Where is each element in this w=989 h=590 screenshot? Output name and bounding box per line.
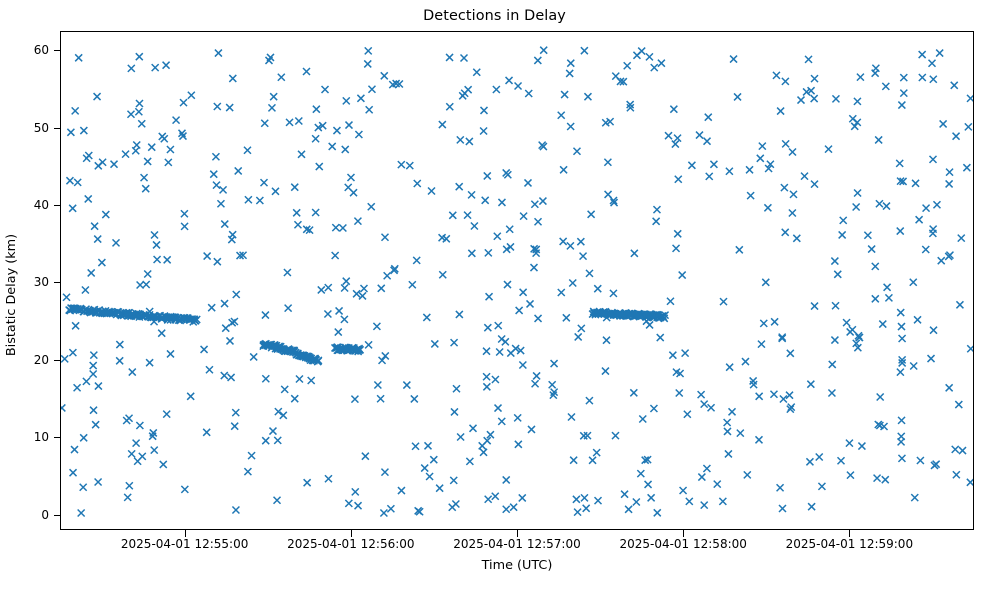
y-axis-tick-mark xyxy=(54,515,61,516)
x-axis-tick-label: 2025-04-01 12:58:00 xyxy=(619,537,746,551)
x-axis-label: Time (UTC) xyxy=(60,558,974,573)
y-axis-tick-mark xyxy=(54,437,61,438)
y-axis-tick-mark xyxy=(54,282,61,283)
x-axis-tick-mark xyxy=(849,530,850,537)
y-axis-tick-label: 0 xyxy=(41,508,49,522)
plot-area xyxy=(60,31,974,530)
x-axis-tick-mark xyxy=(683,530,684,537)
y-axis-tick-mark xyxy=(54,360,61,361)
x-axis-tick-label: 2025-04-01 12:59:00 xyxy=(786,537,913,551)
y-axis-tick-label: 50 xyxy=(34,121,49,135)
y-axis-tick-label: 40 xyxy=(34,198,49,212)
y-axis-tick-label: 30 xyxy=(34,275,49,289)
x-axis-tick-label: 2025-04-01 12:57:00 xyxy=(453,537,580,551)
y-axis-tick-mark xyxy=(54,128,61,129)
y-axis-label: Bistatic Delay (km) xyxy=(0,0,24,590)
x-axis-tick-label: 2025-04-01 12:56:00 xyxy=(287,537,414,551)
x-axis-tick-label: 2025-04-01 12:55:00 xyxy=(121,537,248,551)
x-axis-tick-mark xyxy=(185,530,186,537)
y-axis-tick-label: 10 xyxy=(34,430,49,444)
y-axis-tick-label: 60 xyxy=(34,43,49,57)
scatter-plot-canvas xyxy=(61,32,974,530)
y-axis-tick-label: 20 xyxy=(34,353,49,367)
page-title: Detections in Delay xyxy=(0,8,989,24)
x-axis-tick-mark xyxy=(351,530,352,537)
y-axis-tick-mark xyxy=(54,50,61,51)
y-axis-tick-mark xyxy=(54,205,61,206)
x-axis-tick-mark xyxy=(517,530,518,537)
matplotlib-figure: Detections in Delay 0102030405060 2025-0… xyxy=(0,0,989,590)
